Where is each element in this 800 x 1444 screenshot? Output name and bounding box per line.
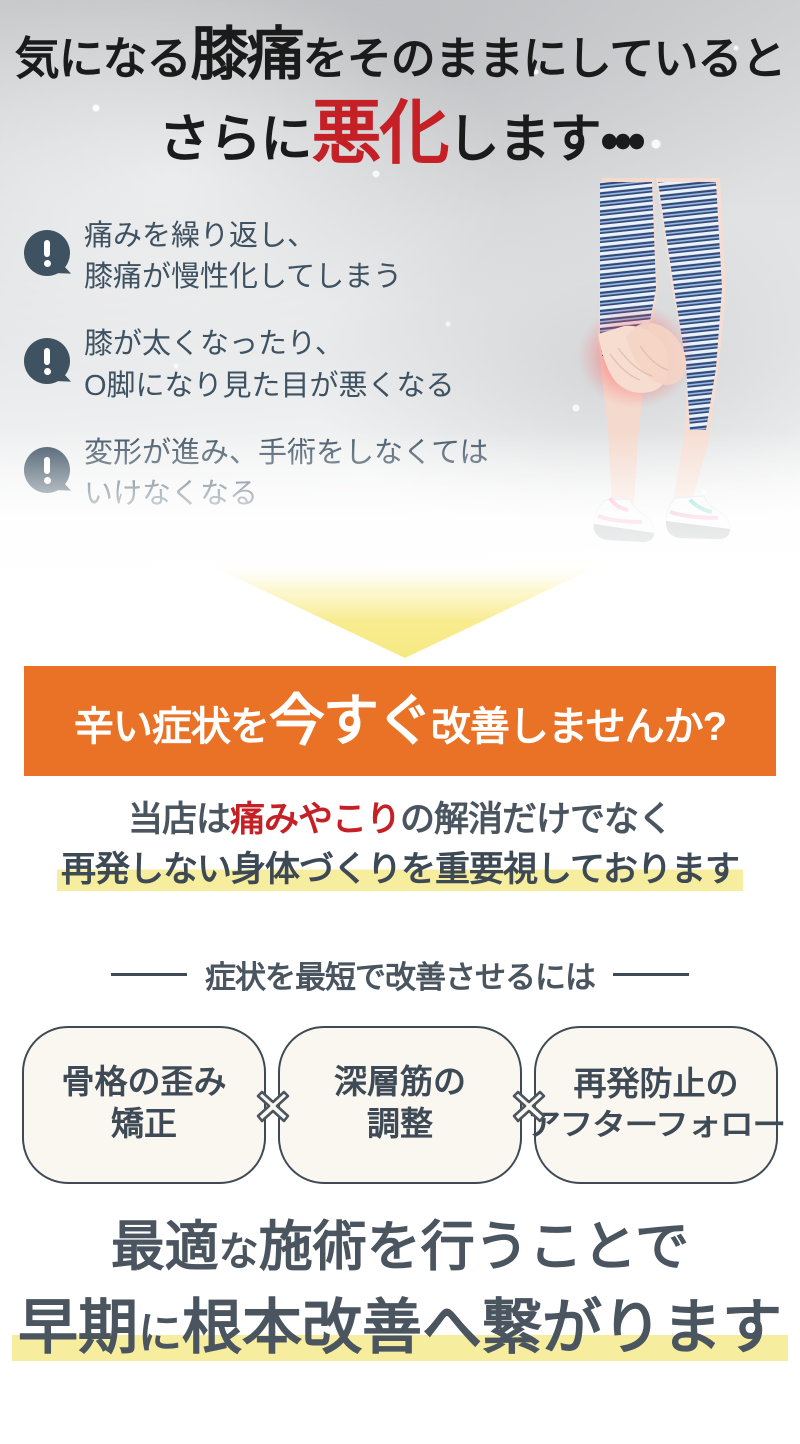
cta-emphasis: 今すぐ <box>269 689 431 752</box>
list-item-text: 痛みを繰り返し、 膝痛が慢性化してしまう <box>84 216 402 298</box>
pillar-box-relapse-prevention[interactable]: 再発防止の アフターフォロー <box>534 1026 778 1184</box>
headline-line-2: さらに悪化します・・・ <box>0 98 800 168</box>
headline-line2-pre: さらに <box>158 111 311 169</box>
treatment-pillars: 骨格の歪み 矯正 深層筋の 調整 再発防止の アフターフォロー <box>22 1026 778 1184</box>
rule-line-right <box>613 973 689 976</box>
headline-line-1: 気になる膝痛をそのままにしていると <box>0 26 800 84</box>
hero-section: 気になる膝痛をそのままにしていると さらに悪化します・・・ 痛みを繰り返し、 膝… <box>0 0 800 600</box>
rule-line-left <box>111 973 187 976</box>
down-arrow-icon <box>199 558 611 658</box>
pillar-line-1: 深層筋の <box>334 1063 466 1105</box>
multiply-icon <box>510 1087 548 1125</box>
closing-copy: 最適な施術を行うことで 早期に根本改善へ繋がります <box>0 1218 800 1361</box>
closing-line1-c: 施術を行うことで <box>259 1217 689 1277</box>
sub-copy-line-2-highlighted: 再発しない身体づくりを重要視しております <box>57 850 743 890</box>
cta-banner[interactable]: 辛い症状を今すぐ改善しませんか? <box>24 666 776 776</box>
pillar-line-2: 矯正 <box>111 1105 177 1147</box>
sub-copy-accent: 痛みやこり <box>230 800 400 839</box>
sub-copy: 当店は痛みやこりの解消だけでなく 再発しない身体づくりを重要視しております <box>0 800 800 891</box>
exclamation-bubble-icon <box>24 230 70 276</box>
closing-line-1: 最適な施術を行うことで <box>0 1218 800 1276</box>
closing-line2-b: に <box>138 1309 182 1358</box>
closing-line2-a: 早期 <box>18 1295 138 1361</box>
closing-line-2-highlighted: 早期に根本改善へ繋がります <box>12 1296 788 1361</box>
headline-line1-pre: 気になる <box>15 33 191 84</box>
hero-headline: 気になる膝痛をそのままにしていると さらに悪化します・・・ <box>0 26 800 168</box>
headline-ellipsis: ・・・ <box>600 111 641 169</box>
pillar-box-skeletal-correction[interactable]: 骨格の歪み 矯正 <box>22 1026 266 1184</box>
headline-line1-emphasis: 膝痛 <box>191 22 303 87</box>
pillar-line-2: 調整 <box>367 1105 433 1147</box>
multiply-icon <box>254 1087 292 1125</box>
cta-pre: 辛い症状を <box>74 705 269 749</box>
list-item-line-2: O脚になり見た目が悪くなる <box>84 370 455 402</box>
pillar-line-1: 骨格の歪み <box>62 1063 227 1105</box>
exclamation-bubble-icon <box>24 338 70 384</box>
list-item-line-1: 痛みを繰り返し、 <box>84 220 316 252</box>
section-heading-with-rules: 症状を最短で改善させるには <box>0 952 800 997</box>
closing-line1-b: な <box>219 1229 259 1274</box>
landing-page: 気になる膝痛をそのままにしていると さらに悪化します・・・ 痛みを繰り返し、 膝… <box>0 0 800 1444</box>
pillar-line-1: 再発防止の <box>574 1065 739 1107</box>
list-item-line-2: 膝痛が慢性化してしまう <box>84 261 402 293</box>
closing-line2-c: 根本改善へ繋がります <box>182 1295 782 1361</box>
list-item-text: 膝が太くなったり、 O脚になり見た目が悪くなる <box>84 324 455 406</box>
sub-copy-post: の解消だけでなく <box>400 800 672 839</box>
section-heading-text: 症状を最短で改善させるには <box>205 952 595 997</box>
pillar-box-deep-muscle-adjustment[interactable]: 深層筋の 調整 <box>278 1026 522 1184</box>
sub-copy-line-1: 当店は痛みやこりの解消だけでなく <box>0 800 800 840</box>
list-item: 膝が太くなったり、 O脚になり見た目が悪くなる <box>24 324 544 406</box>
list-item: 痛みを繰り返し、 膝痛が慢性化してしまう <box>24 216 544 298</box>
headline-line1-post: をそのままにしていると <box>303 33 786 84</box>
cta-banner-text: 辛い症状を今すぐ改善しませんか? <box>74 693 726 749</box>
headline-accent-worsen: 悪化 <box>311 94 447 172</box>
cta-post: 改善しませんか? <box>431 705 726 749</box>
pillar-line-2: アフターフォロー <box>527 1107 785 1145</box>
closing-line1-a: 最適 <box>111 1217 219 1277</box>
list-item-line-1: 膝が太くなったり、 <box>84 328 344 360</box>
sub-copy-pre: 当店は <box>128 800 230 839</box>
headline-line2-post: します <box>447 111 600 169</box>
